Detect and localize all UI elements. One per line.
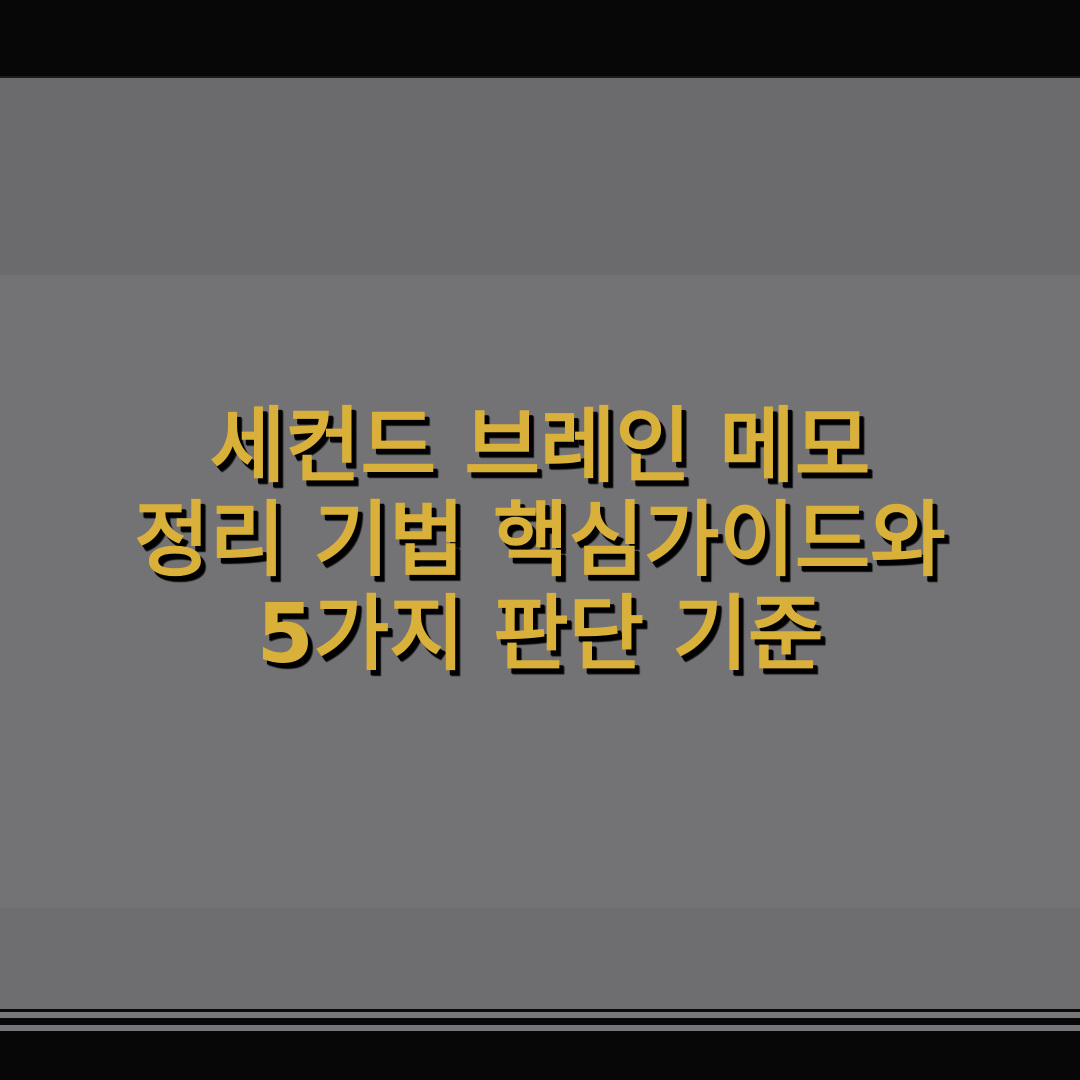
thumbnail-frame: 세컨드 브레인 메모 정리 기법 핵심가이드와 5가지 판단 기준 — [0, 0, 1080, 1080]
title-line-3: 5가지 판단 기준 — [0, 588, 1080, 682]
title-line-2: 정리 기법 핵심가이드와 — [0, 494, 1080, 588]
background-band-upper — [0, 78, 1080, 275]
title-overlay: 세컨드 브레인 메모 정리 기법 핵심가이드와 5가지 판단 기준 — [0, 400, 1080, 682]
title-line-1: 세컨드 브레인 메모 — [0, 400, 1080, 494]
background-band-lower — [0, 908, 1080, 1010]
letterbox-bar-bottom — [0, 1031, 1080, 1080]
letterbox-bar-top — [0, 0, 1080, 76]
bottom-stripe-3 — [0, 1018, 1080, 1025]
